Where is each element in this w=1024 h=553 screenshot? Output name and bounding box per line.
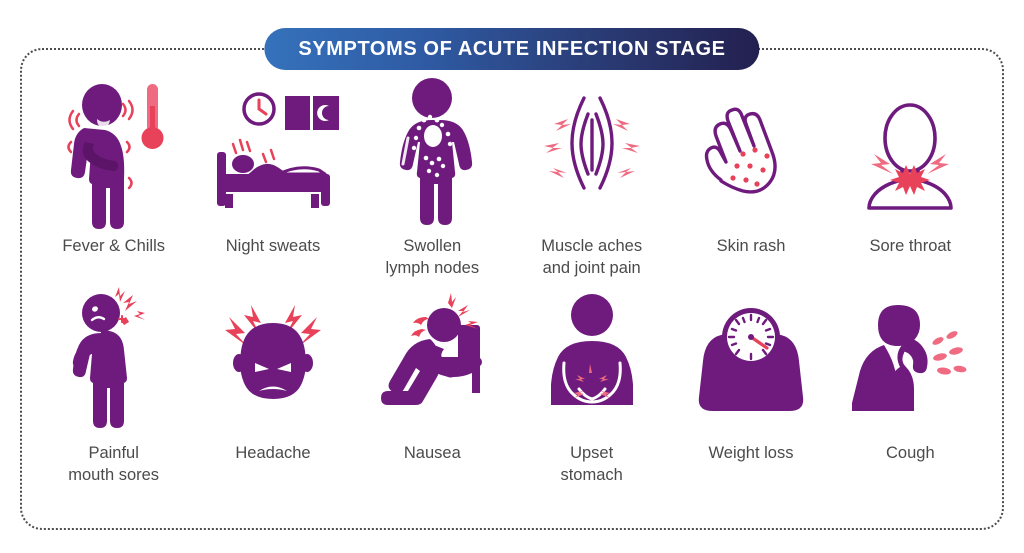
symptom-card-skin-rash[interactable]: Skin rash xyxy=(671,76,830,295)
shivering-person-thermometer-icon xyxy=(44,76,184,226)
symptom-label: Night sweats xyxy=(226,236,320,258)
symptom-label: Fever & Chills xyxy=(62,236,165,258)
symptom-card-upset-stomach[interactable]: Upset stomach xyxy=(512,295,671,514)
head-throat-pain-icon xyxy=(840,76,980,226)
symptom-card-cough[interactable]: Cough xyxy=(831,295,990,514)
symptom-card-nausea[interactable]: Nausea xyxy=(353,295,512,514)
face-headache-bolts-icon xyxy=(203,295,343,433)
symptom-card-swollen-lymph-nodes[interactable]: Swollen lymph nodes xyxy=(353,76,512,295)
symptom-label: Cough xyxy=(886,443,935,465)
symptom-label: Sore throat xyxy=(870,236,952,258)
person-coughing-droplets-icon xyxy=(840,295,980,433)
infographic-root: SYMPTOMS OF ACUTE INFECTION STAGE xyxy=(0,0,1024,553)
symptom-label: Painful mouth sores xyxy=(68,443,159,487)
symptom-label: Swollen lymph nodes xyxy=(386,236,480,280)
symptom-label: Headache xyxy=(235,443,310,465)
symptom-label: Muscle aches and joint pain xyxy=(541,236,642,280)
symptom-label: Nausea xyxy=(404,443,461,465)
person-in-bed-clock-moon-icon xyxy=(203,76,343,226)
title-banner: SYMPTOMS OF ACUTE INFECTION STAGE xyxy=(264,28,759,70)
hand-rash-dots-icon xyxy=(681,76,821,226)
body-lymph-nodes-icon xyxy=(362,76,502,226)
bathroom-scale-icon xyxy=(681,295,821,433)
torso-stomach-ache-icon xyxy=(522,295,662,433)
page-title: SYMPTOMS OF ACUTE INFECTION STAGE xyxy=(298,38,725,61)
symptom-card-fever-chills[interactable]: Fever & Chills xyxy=(34,76,193,295)
symptom-label: Upset stomach xyxy=(560,443,622,487)
person-vomiting-toilet-icon xyxy=(362,295,502,433)
symptom-card-weight-loss[interactable]: Weight loss xyxy=(671,295,830,514)
muscle-fiber-pain-icon xyxy=(522,76,662,226)
symptoms-grid: Fever & Chills xyxy=(34,76,990,514)
symptom-card-night-sweats[interactable]: Night sweats xyxy=(193,76,352,295)
symptom-card-sore-throat[interactable]: Sore throat xyxy=(831,76,990,295)
symptom-card-headache[interactable]: Headache xyxy=(193,295,352,514)
symptom-label: Weight loss xyxy=(709,443,794,465)
symptom-card-mouth-sores[interactable]: Painful mouth sores xyxy=(34,295,193,514)
person-mouth-pain-icon xyxy=(44,295,184,433)
symptom-card-muscle-aches[interactable]: Muscle aches and joint pain xyxy=(512,76,671,295)
symptom-label: Skin rash xyxy=(717,236,786,258)
